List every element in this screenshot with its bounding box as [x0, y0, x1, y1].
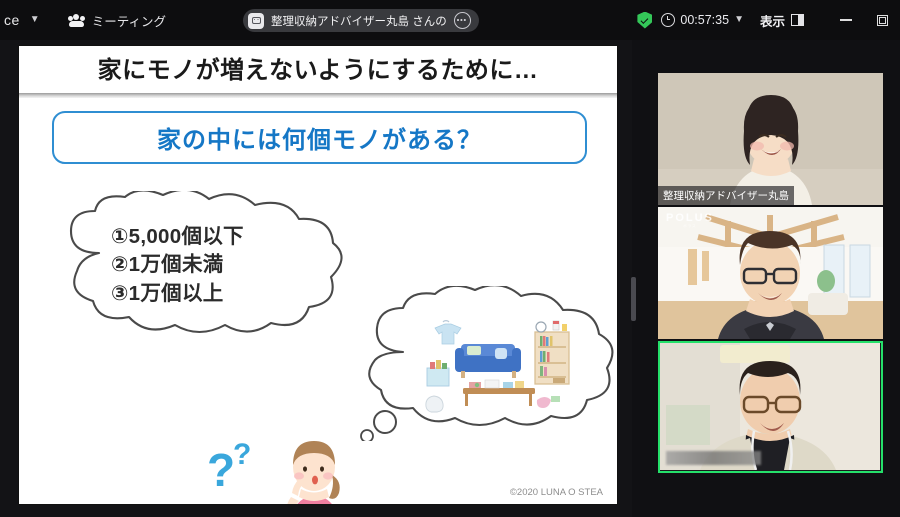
screen-share-pill[interactable]: 整理収納アドバイザー丸島 さんの	[243, 9, 479, 32]
meeting-timer[interactable]: 00:57:35 ▼	[661, 13, 744, 27]
svg-text:?: ?	[207, 444, 235, 496]
more-options-icon[interactable]	[454, 12, 471, 29]
slide-copyright: ©2020 LUNA O STEA	[510, 487, 603, 498]
topbar-left-group: ce ▼ ミーティング	[0, 11, 166, 30]
shared-screen-stage[interactable]: 家にモノが増えないようにするために… 家の中には何個モノがある？ ①5,000個…	[0, 40, 632, 517]
timer-value: 00:57:35	[680, 13, 729, 27]
clock-icon	[661, 13, 675, 27]
slide-title: 家にモノが増えないようにするために…	[19, 50, 617, 85]
polus-watermark-text: POLUS	[666, 212, 714, 224]
video-tile-1[interactable]: 整理収納アドバイザー丸島	[658, 73, 883, 205]
restore-icon	[877, 15, 888, 26]
shield-check-icon[interactable]	[637, 12, 652, 29]
polus-watermark: POLUS ポラス	[666, 212, 714, 229]
minimize-button[interactable]	[828, 0, 864, 40]
layout-icon	[791, 14, 804, 26]
option-1: ①5,000個以下	[111, 223, 244, 251]
title-divider	[19, 93, 617, 98]
workspace-name[interactable]: ce	[4, 12, 20, 28]
options-list: ①5,000個以下 ②1万個未満 ③1万個以上	[111, 223, 244, 308]
video-panel: 整理収納アドバイザー丸島	[641, 40, 900, 517]
living-room-illustration	[417, 316, 577, 416]
participant-3-blurred-label	[666, 451, 761, 465]
room-thought-cloud	[359, 286, 618, 441]
panel-resize-handle[interactable]	[631, 277, 636, 321]
meeting-window: ce ▼ ミーティング 整理収納アドバイザー丸島 さんの 00:57:35 ▼	[0, 0, 900, 517]
minimize-icon	[840, 19, 852, 21]
polus-watermark-sub: ポラス	[666, 224, 714, 229]
top-bar: ce ▼ ミーティング 整理収納アドバイザー丸島 さんの 00:57:35 ▼	[0, 0, 900, 40]
meeting-tab[interactable]: ミーティング	[68, 11, 166, 30]
presentation-slide: 家にモノが増えないようにするために… 家の中には何個モノがある？ ①5,000個…	[18, 45, 618, 505]
thinking-woman-illustration	[269, 431, 359, 505]
topbar-right-group: 00:57:35 ▼ 表示	[637, 0, 900, 40]
view-label: 表示	[760, 11, 785, 30]
chevron-down-icon[interactable]: ▼	[734, 15, 744, 25]
option-3: ③1万個以上	[111, 280, 244, 308]
svg-text:?: ?	[233, 438, 251, 471]
participant-1-name: 整理収納アドバイザー丸島	[658, 186, 794, 205]
screen-share-app-icon	[248, 13, 264, 29]
meeting-label: ミーティング	[92, 11, 166, 30]
restore-button[interactable]	[864, 0, 900, 40]
question-box: 家の中には何個モノがある？	[52, 111, 587, 164]
view-button[interactable]: 表示	[760, 11, 804, 30]
people-icon	[68, 14, 85, 27]
option-2: ②1万個未満	[111, 251, 244, 279]
question-mark-icons: ? ?	[207, 436, 277, 505]
question-text: 家の中には何個モノがある？	[157, 120, 482, 155]
video-tile-3[interactable]	[658, 341, 883, 473]
screen-share-label: 整理収納アドバイザー丸島 さんの	[271, 13, 447, 29]
chevron-down-icon[interactable]: ▼	[30, 15, 40, 25]
options-thought-cloud: ①5,000個以下 ②1万個未満 ③1万個以上	[59, 191, 354, 341]
video-tile-2[interactable]: POLUS ポラス	[658, 207, 883, 339]
